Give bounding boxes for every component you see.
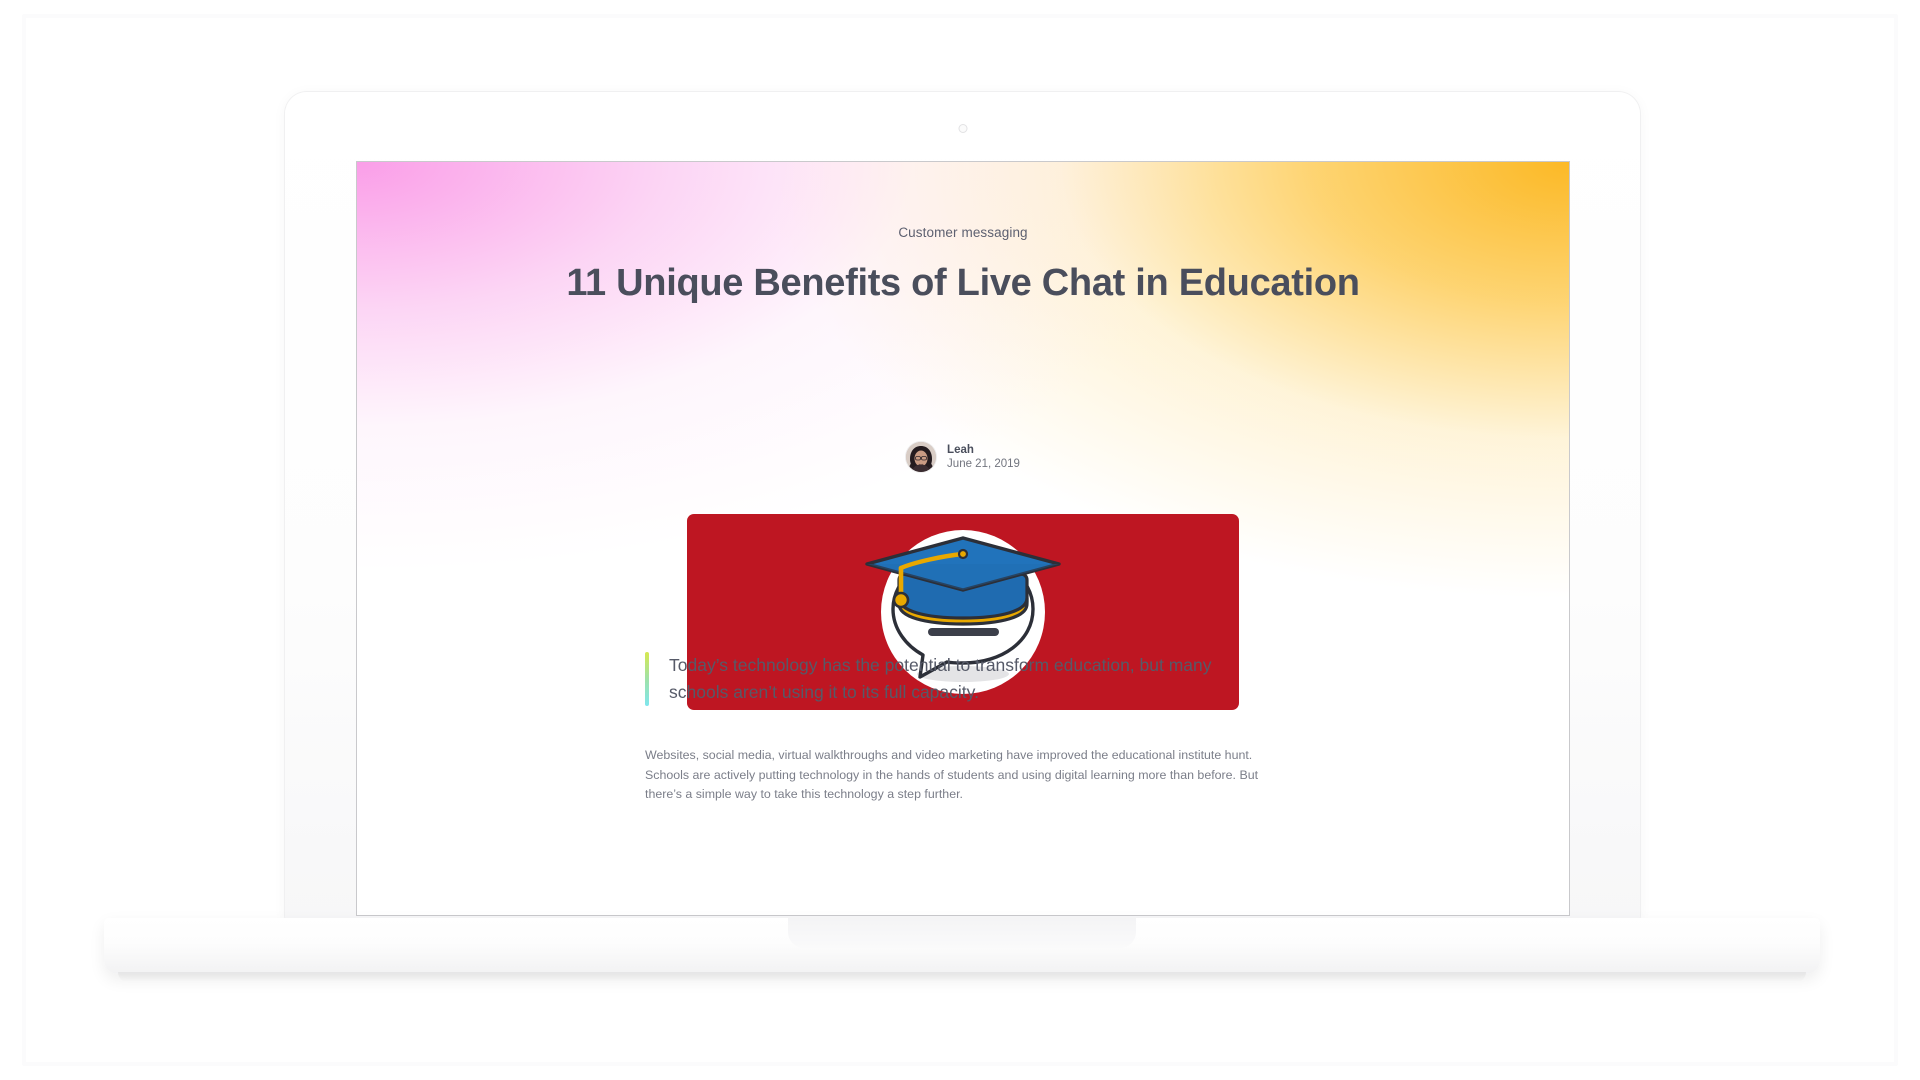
pull-quote: Today’s technology has the potential to … — [645, 652, 1265, 706]
article-headline: 11 Unique Benefits of Live Chat in Educa… — [357, 258, 1569, 308]
article-byline: Leah June 21, 2019 — [357, 442, 1569, 472]
publish-date: June 21, 2019 — [947, 457, 1020, 472]
laptop-base-shadow — [118, 972, 1806, 982]
quote-accent-bar — [645, 652, 649, 706]
byline-text: Leah June 21, 2019 — [947, 443, 1020, 472]
article-body: Websites, social media, virtual walkthro… — [645, 746, 1273, 805]
quote-text: Today’s technology has the potential to … — [669, 652, 1265, 706]
article-page: Customer messaging 11 Unique Benefits of… — [357, 162, 1569, 915]
laptop-screen: Customer messaging 11 Unique Benefits of… — [357, 162, 1569, 915]
laptop-mockup: Customer messaging 11 Unique Benefits of… — [0, 0, 1920, 1080]
laptop-base-notch — [788, 918, 1136, 948]
webcam-icon — [958, 124, 967, 133]
author-avatar[interactable] — [906, 442, 936, 472]
author-name[interactable]: Leah — [947, 443, 1020, 457]
article-category[interactable]: Customer messaging — [357, 225, 1569, 240]
screenshot-root: Customer messaging 11 Unique Benefits of… — [0, 0, 1920, 1080]
laptop-base — [104, 918, 1820, 974]
